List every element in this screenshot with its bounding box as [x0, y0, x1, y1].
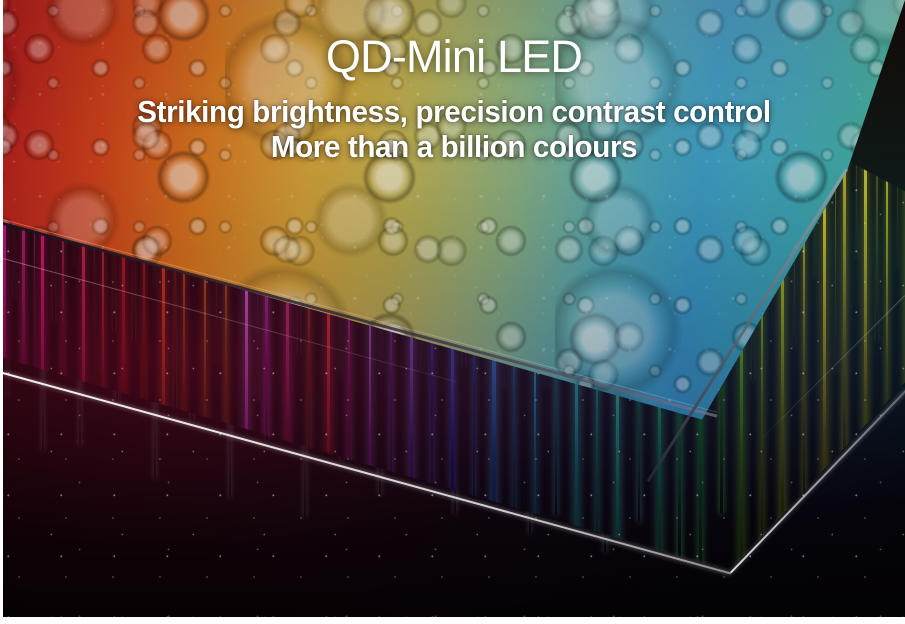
frame-strip-bottom — [0, 617, 905, 624]
frame-strip-left — [0, 0, 3, 624]
hero-banner: QD-Mini LED Striking brightness, precisi… — [0, 0, 905, 624]
illustration-canvas: QD-Mini LED Striking brightness, precisi… — [3, 0, 905, 617]
